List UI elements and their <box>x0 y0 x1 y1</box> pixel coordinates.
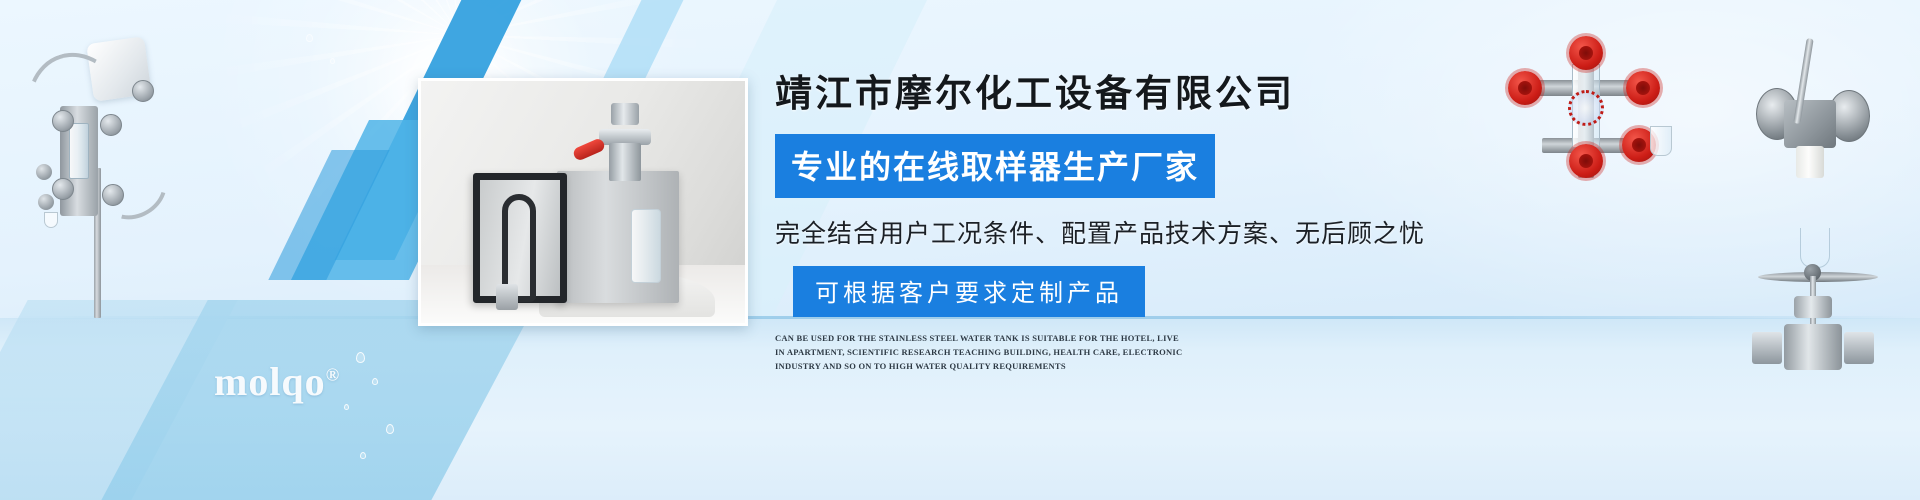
photo-cabinet-door <box>473 173 567 303</box>
sampler-drain-cup <box>44 212 58 228</box>
water-droplet <box>372 378 378 385</box>
valve-handwheel-bottom <box>1569 144 1603 178</box>
photo-valve-top <box>611 103 639 125</box>
water-droplet <box>344 404 349 410</box>
photo-sample-bottle <box>631 209 661 283</box>
valve-handwheel-right <box>1626 71 1660 105</box>
watermark-logo: molqo® <box>214 358 340 405</box>
photo-door-latch <box>496 284 518 310</box>
water-droplet <box>386 424 394 434</box>
banner-text-block: 靖江市摩尔化工设备有限公司 专业的在线取样器生产厂家 完全结合用户工况条件、配置… <box>775 72 1395 373</box>
water-droplet <box>306 34 313 42</box>
sampler-flange <box>52 178 74 200</box>
sampler-flange <box>132 80 154 102</box>
custom-product-badge: 可根据客户要求定制产品 <box>793 266 1145 317</box>
valve-handwheel-top <box>1569 36 1603 70</box>
gate-valve-bonnet <box>1794 296 1832 318</box>
water-droplet <box>330 58 335 64</box>
lever-valve-cup <box>1796 146 1824 178</box>
watermark-text: molqo <box>214 359 326 404</box>
product-banner: 靖江市摩尔化工设备有限公司 专业的在线取样器生产厂家 完全结合用户工况条件、配置… <box>0 0 1920 500</box>
registered-mark-icon: ® <box>326 365 340 385</box>
gate-valve-port-right <box>1844 332 1874 364</box>
sampler-valve <box>38 194 54 210</box>
lever-valve-body <box>1784 100 1836 148</box>
photo-cabinet-body <box>557 171 679 303</box>
product-image-cross-sampler <box>1498 34 1688 179</box>
valve-handwheel-left <box>1508 71 1542 105</box>
photo-valve-body <box>609 143 641 181</box>
sub-headline: 完全结合用户工况条件、配置产品技术方案、无后顾之忧 <box>775 214 1395 250</box>
english-description: CAN BE USED FOR THE STAINLESS STEEL WATE… <box>775 331 1183 373</box>
water-droplet <box>360 452 366 459</box>
gate-valve-port-left <box>1752 332 1782 364</box>
photo-valve-assembly <box>597 103 655 183</box>
sampler-valve <box>36 164 52 180</box>
headline-badge: 专业的在线取样器生产厂家 <box>775 134 1215 198</box>
product-image-lever-valve <box>1740 28 1890 203</box>
gate-valve-vial <box>1800 228 1830 268</box>
water-droplet <box>356 352 365 363</box>
product-image-online-sampler <box>8 18 188 318</box>
gate-valve-body <box>1784 324 1842 370</box>
cross-sample-vial <box>1650 126 1672 156</box>
product-image-gate-valve <box>1748 228 1898 388</box>
brand-seal-icon <box>1568 90 1604 126</box>
product-photo-sampling-cabinet[interactable] <box>418 78 748 326</box>
company-name: 靖江市摩尔化工设备有限公司 <box>775 72 1395 118</box>
